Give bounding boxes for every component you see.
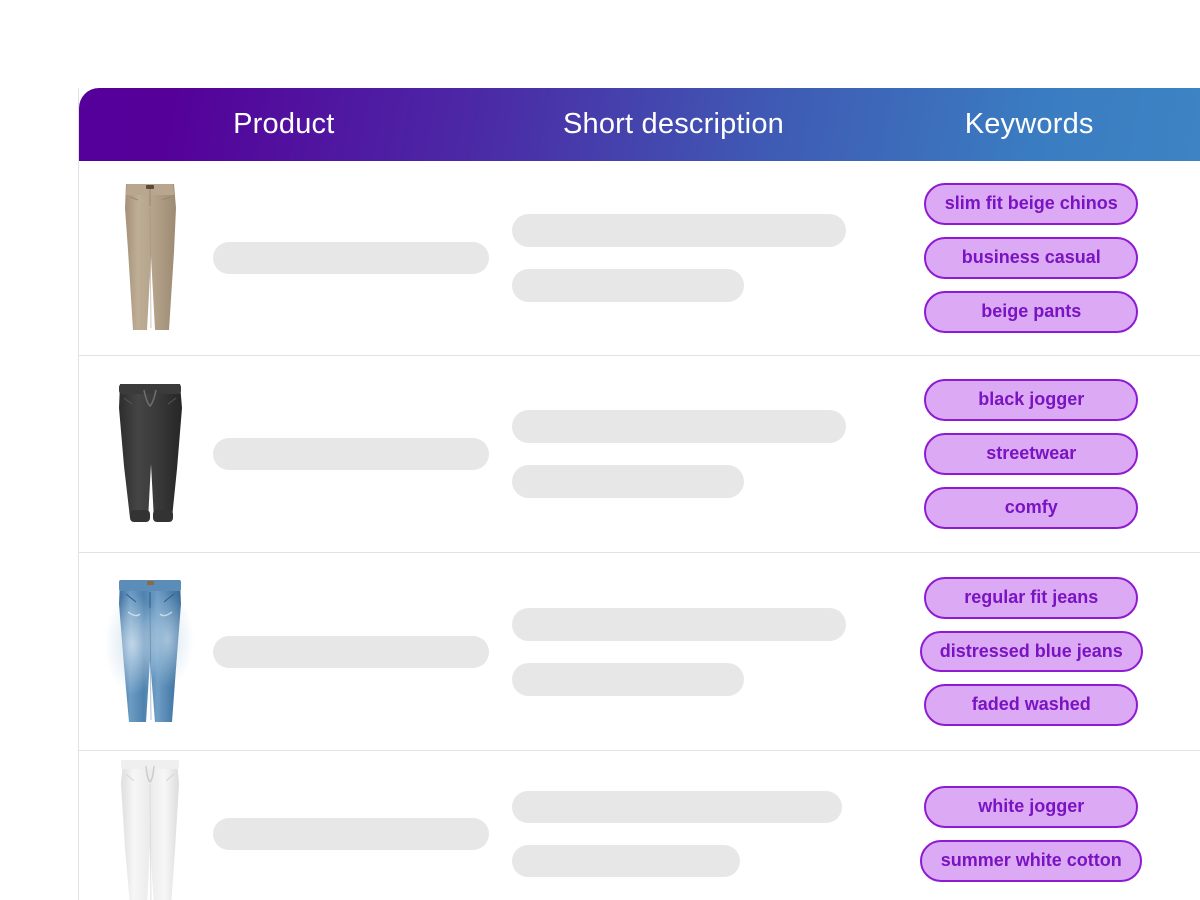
keywords-cell: regular fit jeans distressed blue jeans … [859,577,1200,726]
description-placeholder-line [512,214,846,247]
product-name-placeholder [213,818,489,850]
keyword-pill[interactable]: summer white cotton [920,840,1142,882]
product-cell [79,572,489,732]
keyword-pill[interactable]: faded washed [924,684,1138,726]
table-row[interactable]: white jogger summer white cotton [79,751,1200,900]
product-keyword-table-page: Product Short description Keywords [0,0,1200,900]
keyword-pill[interactable]: streetwear [924,433,1138,475]
product-cell [79,178,489,338]
table-row[interactable]: slim fit beige chinos business casual be… [79,161,1200,356]
product-cell [79,754,489,900]
keyword-pill[interactable]: comfy [924,487,1138,529]
keyword-pill[interactable]: black jogger [924,379,1138,421]
description-placeholder-line [512,608,846,641]
keyword-pill[interactable]: distressed blue jeans [920,631,1143,673]
description-placeholder-line [512,791,842,823]
keyword-pill[interactable]: regular fit jeans [924,577,1138,619]
product-name-placeholder [213,636,489,668]
short-description-cell [489,608,859,696]
description-placeholder-line [512,845,740,877]
table-header-row: Product Short description Keywords [79,88,1200,161]
keywords-cell: white jogger summer white cotton [859,786,1200,881]
white-joggers-image[interactable] [106,754,194,900]
column-header-short-description[interactable]: Short description [489,108,859,141]
column-header-product[interactable]: Product [79,108,489,141]
description-placeholder-line [512,269,744,302]
table-row[interactable]: black jogger streetwear comfy [79,356,1200,553]
description-placeholder-line [512,410,846,443]
description-placeholder-line [512,663,744,696]
keyword-pill[interactable]: white jogger [924,786,1138,828]
keywords-cell: slim fit beige chinos business casual be… [859,183,1200,332]
description-placeholder-line [512,465,744,498]
product-name-placeholder [213,242,489,274]
black-joggers-image[interactable] [106,374,194,534]
product-cell [79,374,489,534]
product-name-placeholder [213,438,489,470]
short-description-cell [489,410,859,498]
table-row[interactable]: regular fit jeans distressed blue jeans … [79,553,1200,751]
blue-jeans-image[interactable] [106,572,194,732]
keyword-pill[interactable]: business casual [924,237,1138,279]
keywords-cell: black jogger streetwear comfy [859,379,1200,528]
product-table: Product Short description Keywords [78,88,1200,900]
short-description-cell [489,791,859,877]
short-description-cell [489,214,859,302]
keyword-pill[interactable]: slim fit beige chinos [924,183,1138,225]
keyword-pill[interactable]: beige pants [924,291,1138,333]
column-header-keywords[interactable]: Keywords [858,108,1200,141]
beige-chinos-image[interactable] [106,178,194,338]
